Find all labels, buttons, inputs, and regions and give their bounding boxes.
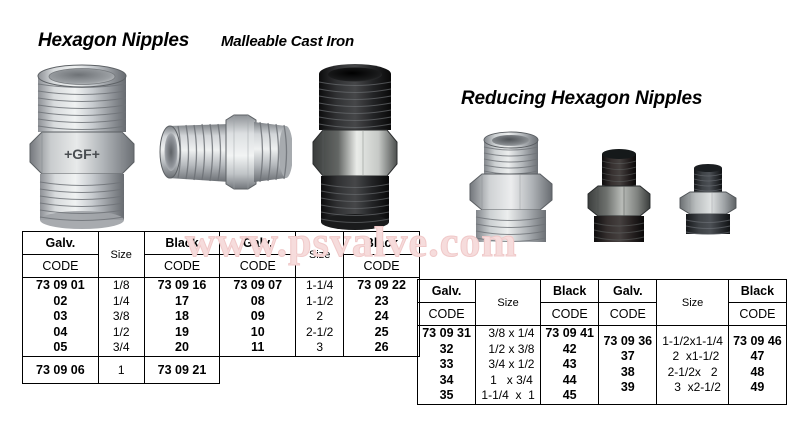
- cell-sizes-1: 3/8 x 1/4 1/2 x 3/8 3/4 x 1/2 1 x 3/4 1-…: [476, 326, 541, 405]
- table-header-row-sub: CODE CODE CODE CODE: [418, 303, 787, 326]
- cell-black-codes-2: 73 09 22 23 24 25 26: [344, 278, 420, 357]
- cell-black-codes-2: 73 09 46 47 48 49: [728, 326, 786, 405]
- header-black-2: Black: [728, 280, 786, 303]
- galvanized-reducing-nipple-image: [458, 126, 562, 244]
- cell-footer-empty-1: [220, 356, 296, 383]
- cell-sizes-2: 1-1/2x1-1/4 2 x1-1/2 2-1/2x 2 3 x2-1/2: [657, 326, 728, 405]
- cell-sizes-2: 1-1/4 1-1/2 2 2-1/2 3: [296, 278, 344, 357]
- cell-galv-codes-2: 73 09 36 37 38 39: [599, 326, 657, 405]
- header-size-1: Size: [476, 280, 541, 326]
- reducing-hexagon-nipples-spec-table: Galv. Size Black Galv. Size Black CODE C…: [417, 279, 787, 405]
- galvanized-hexagon-nipple-horizontal-image: [152, 98, 292, 203]
- cell-sizes-1: 1/8 1/4 3/8 1/2 3/4: [98, 278, 144, 357]
- table-header-row-top: Galv. Size Black Galv. Size Black: [418, 280, 787, 303]
- cell-black-codes-1: 73 09 16 17 18 19 20: [144, 278, 220, 357]
- cell-footer-empty-3: [344, 356, 420, 383]
- header-black-1: Black: [144, 232, 220, 255]
- table-header-row-sub: CODE CODE CODE CODE: [23, 255, 420, 278]
- header-code-galv-2: CODE: [599, 303, 657, 326]
- cell-footer-black-code: 73 09 21: [144, 356, 220, 383]
- header-galv-2: Galv.: [220, 232, 296, 255]
- small-reducing-nipple-image: [668, 162, 740, 238]
- page-title-hexagon-nipples: Hexagon Nipples: [38, 30, 189, 52]
- header-code-black-2: CODE: [728, 303, 786, 326]
- table-footer-row: 73 09 06 1 73 09 21: [23, 356, 420, 383]
- black-reducing-nipple-image: [572, 146, 658, 244]
- black-hexagon-nipple-vertical-image: [305, 58, 405, 230]
- header-black-2: Black: [344, 232, 420, 255]
- cell-footer-galv-code: 73 09 06: [23, 356, 99, 383]
- table-data-row: 73 09 31 32 33 34 35 3/8 x 1/4 1/2 x 3/8…: [418, 326, 787, 405]
- cell-galv-codes-1: 73 09 01 02 03 04 05: [23, 278, 99, 357]
- hexagon-nipples-spec-table: Galv. Size Black Galv. Size Black CODE C…: [22, 231, 420, 384]
- table-data-row: 73 09 01 02 03 04 05 1/8 1/4 3/8 1/2 3/4…: [23, 278, 420, 357]
- header-galv-1: Galv.: [23, 232, 99, 255]
- cell-galv-codes-1: 73 09 31 32 33 34 35: [418, 326, 476, 405]
- cell-footer-size: 1: [98, 356, 144, 383]
- header-code-black-1: CODE: [541, 303, 599, 326]
- brand-mark-gf: +GF+: [64, 146, 100, 162]
- header-code-black-1: CODE: [144, 255, 220, 278]
- header-galv-2: Galv.: [599, 280, 657, 303]
- page-subtitle-malleable-cast-iron: Malleable Cast Iron: [221, 33, 354, 50]
- header-size-1: Size: [98, 232, 144, 278]
- cell-footer-empty-2: [296, 356, 344, 383]
- cell-galv-codes-2: 73 09 07 08 09 10 11: [220, 278, 296, 357]
- header-galv-1: Galv.: [418, 280, 476, 303]
- header-code-galv-1: CODE: [23, 255, 99, 278]
- header-size-2: Size: [296, 232, 344, 278]
- header-code-black-2: CODE: [344, 255, 420, 278]
- table-header-row-top: Galv. Size Black Galv. Size Black: [23, 232, 420, 255]
- cell-black-codes-1: 73 09 41 42 43 44 45: [541, 326, 599, 405]
- header-code-galv-2: CODE: [220, 255, 296, 278]
- galvanized-hexagon-nipple-vertical-image: +GF+: [18, 58, 146, 230]
- header-code-galv-1: CODE: [418, 303, 476, 326]
- header-black-1: Black: [541, 280, 599, 303]
- header-size-2: Size: [657, 280, 728, 326]
- page-title-reducing-hexagon-nipples: Reducing Hexagon Nipples: [461, 88, 702, 110]
